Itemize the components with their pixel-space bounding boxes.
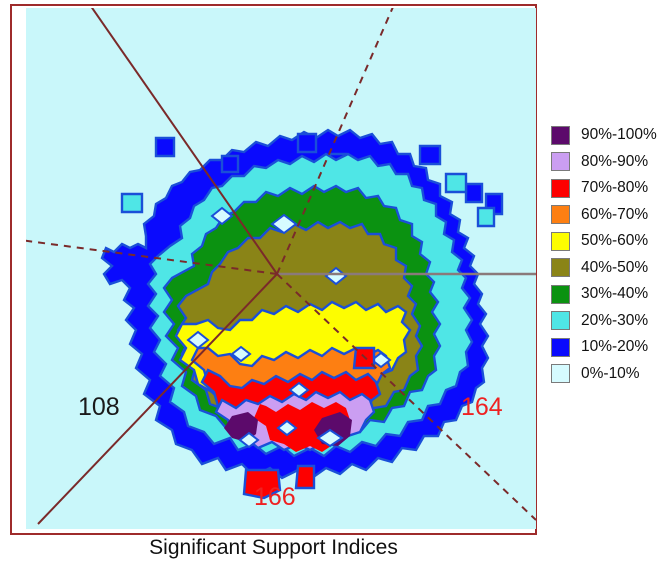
radial-line-solid-ne bbox=[88, 8, 277, 274]
legend-label-0-10: 0%-10% bbox=[581, 365, 640, 383]
legend-item-20-30: 20%-30% bbox=[551, 308, 657, 335]
legend-label-70-80: 70%-80% bbox=[581, 179, 648, 197]
legend-label-20-30: 20%-30% bbox=[581, 312, 648, 330]
legend-swatch-40-50 bbox=[551, 258, 570, 277]
contour-plot-area: 108 164 166 bbox=[26, 8, 536, 529]
region-label-164: 164 bbox=[461, 393, 503, 422]
legend-swatch-80-90 bbox=[551, 152, 570, 171]
radial-axis-lines bbox=[26, 8, 536, 529]
legend-label-80-90: 80%-90% bbox=[581, 153, 648, 171]
radial-line-solid-sw bbox=[38, 274, 277, 524]
plot-canvas: 108 164 166 bbox=[26, 8, 536, 529]
chart-caption: Significant Support Indices bbox=[0, 536, 547, 560]
legend-swatch-30-40 bbox=[551, 285, 570, 304]
legend-swatch-20-30 bbox=[551, 311, 570, 330]
legend-label-60-70: 60%-70% bbox=[581, 206, 648, 224]
legend-label-90-100: 90%-100% bbox=[581, 126, 657, 144]
legend-swatch-60-70 bbox=[551, 205, 570, 224]
legend: 90%-100% 80%-90% 70%-80% 60%-70% 50%-60%… bbox=[551, 122, 657, 387]
legend-label-30-40: 30%-40% bbox=[581, 285, 648, 303]
legend-item-60-70: 60%-70% bbox=[551, 202, 657, 229]
legend-item-80-90: 80%-90% bbox=[551, 149, 657, 176]
legend-label-50-60: 50%-60% bbox=[581, 232, 648, 250]
legend-swatch-50-60 bbox=[551, 232, 570, 251]
legend-item-30-40: 30%-40% bbox=[551, 281, 657, 308]
legend-swatch-90-100 bbox=[551, 126, 570, 145]
legend-item-40-50: 40%-50% bbox=[551, 255, 657, 282]
legend-label-10-20: 10%-20% bbox=[581, 338, 648, 356]
region-label-166: 166 bbox=[254, 483, 296, 512]
radial-line-dashed-ne bbox=[277, 8, 396, 274]
legend-label-40-50: 40%-50% bbox=[581, 259, 648, 277]
legend-item-10-20: 10%-20% bbox=[551, 334, 657, 361]
legend-item-0-10: 0%-10% bbox=[551, 361, 657, 388]
legend-item-50-60: 50%-60% bbox=[551, 228, 657, 255]
legend-item-90-100: 90%-100% bbox=[551, 122, 657, 149]
legend-swatch-10-20 bbox=[551, 338, 570, 357]
legend-item-70-80: 70%-80% bbox=[551, 175, 657, 202]
region-label-108: 108 bbox=[78, 393, 120, 422]
radial-line-dashed-w bbox=[26, 240, 277, 274]
legend-swatch-70-80 bbox=[551, 179, 570, 198]
legend-swatch-0-10 bbox=[551, 364, 570, 383]
